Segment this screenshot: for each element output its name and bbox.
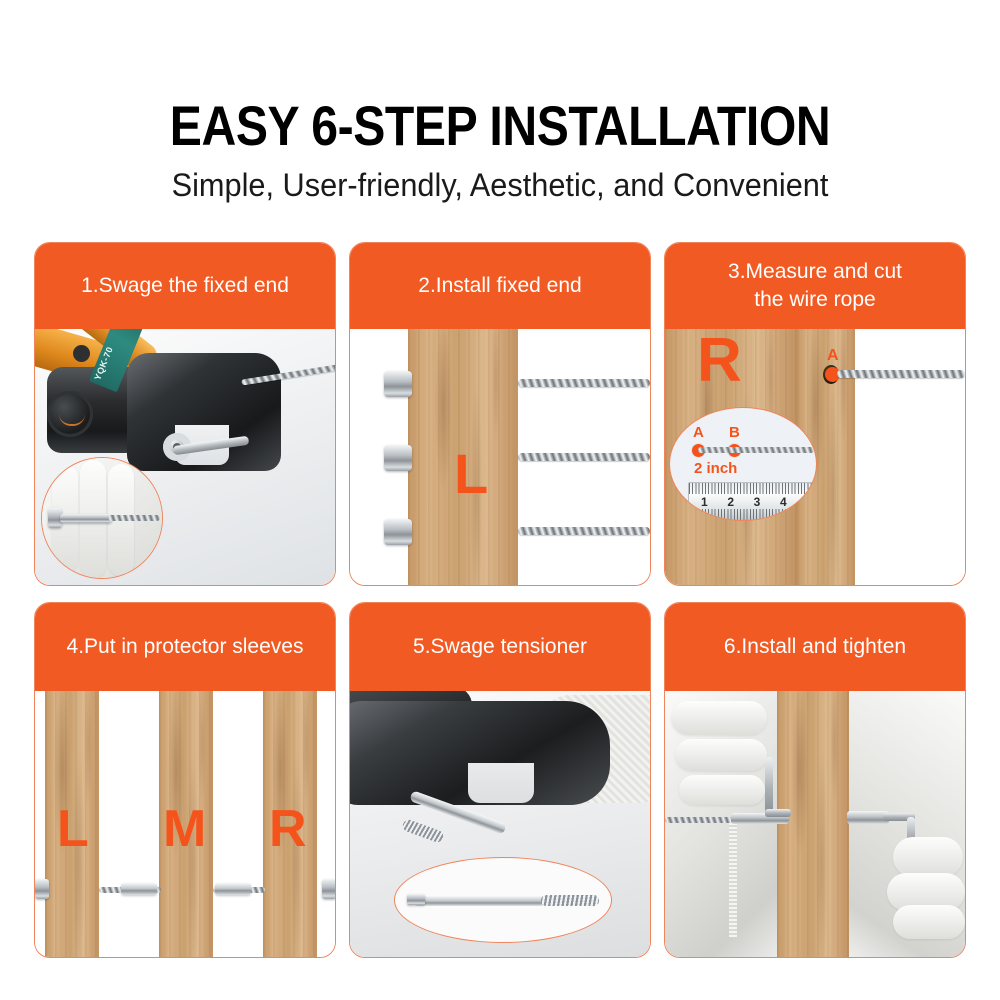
glove-finger-icon <box>671 701 767 735</box>
step-card-2[interactable]: 2.Install fixed end L <box>349 242 651 586</box>
ruler-icon: 1 2 3 4 5 <box>688 482 816 520</box>
step-5-header: 5.Swage tensioner <box>350 603 650 691</box>
dial-mark-icon <box>59 414 85 426</box>
swage-tool-jaw-gap <box>468 763 534 803</box>
wire-rope-icon <box>518 453 650 461</box>
wire-rope-icon <box>837 370 965 378</box>
tensioner-body-icon <box>413 896 545 906</box>
measurement-label: 2 inch <box>694 460 737 477</box>
cable-fitting-icon <box>322 879 335 899</box>
step-5-title: 5.Swage tensioner <box>413 633 587 661</box>
ruler-tick-2: 2 <box>727 495 734 509</box>
glove-finger-icon <box>893 905 965 939</box>
cable-fitting-icon <box>384 445 412 471</box>
ruler-tick-3: 3 <box>754 495 761 509</box>
ruler-numbers: 1 2 3 4 5 <box>701 495 813 509</box>
step-card-6[interactable]: 6.Install and tighten <box>664 602 966 958</box>
post-label-M: M <box>163 799 206 859</box>
ruler-tick-4: 4 <box>780 495 787 509</box>
stud-shank-icon <box>60 514 112 523</box>
protector-sleeve-icon <box>121 883 157 895</box>
post-label-L: L <box>57 799 89 859</box>
page-title: EASY 6-STEP INSTALLATION <box>70 96 930 156</box>
step-6-header: 6.Install and tighten <box>665 603 965 691</box>
cable-fitting-icon <box>384 371 412 397</box>
ruler-tick-1: 1 <box>701 495 708 509</box>
step-2-title: 2.Install fixed end <box>418 272 581 300</box>
infographic-page: EASY 6-STEP INSTALLATION Simple, User-fr… <box>0 0 1000 1000</box>
point-a-label: A <box>827 347 839 365</box>
ruler-ticks <box>689 509 815 521</box>
protector-sleeve-icon <box>215 883 251 895</box>
step-3-header: 3.Measure and cut the wire rope <box>665 243 965 329</box>
wire-rope-icon <box>518 379 650 387</box>
wire-rope-icon <box>698 447 814 453</box>
cable-fitting-icon <box>384 519 412 545</box>
wire-rope-icon <box>108 515 160 521</box>
point-a-label: A <box>693 424 704 441</box>
ruler-tick-5: 5 <box>806 495 813 509</box>
step-6-title: 6.Install and tighten <box>724 633 906 661</box>
page-header: EASY 6-STEP INSTALLATION Simple, User-fr… <box>0 0 1000 204</box>
step-4-image: L M R <box>35 691 335 957</box>
tensioner-thread-icon <box>541 895 599 906</box>
allen-key-icon <box>765 809 791 817</box>
step-card-5[interactable]: 5.Swage tensioner <box>349 602 651 958</box>
point-b-label: B <box>729 424 740 441</box>
step-5-image <box>350 691 650 957</box>
handle-knob-icon <box>73 345 90 362</box>
wire-rope-icon <box>518 527 650 535</box>
ruler-ticks <box>689 483 815 494</box>
glove-finger-icon <box>679 775 765 805</box>
step-2-header: 2.Install fixed end <box>350 243 650 329</box>
step-1-title: 1.Swage the fixed end <box>81 272 289 300</box>
post-label-L: L <box>454 441 488 506</box>
allen-key-icon <box>765 757 773 817</box>
jacket-zipper-icon <box>729 821 737 937</box>
glove-finger-icon <box>675 739 767 771</box>
steps-grid: 1.Swage the fixed end YQK-70 <box>34 242 966 958</box>
step-2-image: L <box>350 329 650 585</box>
wire-rope-icon <box>665 817 739 823</box>
step-1-detail-inset <box>41 457 163 579</box>
page-subtitle: Simple, User-friendly, Aesthetic, and Co… <box>20 166 980 204</box>
step-6-image <box>665 691 965 957</box>
tensioner-tip-icon <box>407 894 425 905</box>
step-3-title: 3.Measure and cut the wire rope <box>728 258 902 314</box>
post-label-R: R <box>697 329 742 396</box>
step-card-3[interactable]: 3.Measure and cut the wire rope R A A B <box>664 242 966 586</box>
step-3-image: R A A B 2 inch 1 <box>665 329 965 585</box>
tool-dial-icon <box>47 391 93 437</box>
step-1-header: 1.Swage the fixed end <box>35 243 335 329</box>
step-5-detail-inset <box>394 857 612 943</box>
cable-fitting-icon <box>35 879 49 899</box>
post-label-R: R <box>269 799 307 859</box>
glove-finger-icon <box>893 837 963 877</box>
wooden-post-icon <box>777 691 849 957</box>
step-3-title-line1: 3.Measure and cut <box>728 260 902 283</box>
step-1-image: YQK-70 <box>35 329 335 585</box>
step-card-1[interactable]: 1.Swage the fixed end YQK-70 <box>34 242 336 586</box>
step-4-title: 4.Put in protector sleeves <box>67 633 304 661</box>
step-3-title-line2: the wire rope <box>754 288 875 311</box>
step-3-detail-inset: A B 2 inch 1 2 3 4 5 <box>669 407 817 521</box>
step-4-header: 4.Put in protector sleeves <box>35 603 335 691</box>
step-card-4[interactable]: 4.Put in protector sleeves L M R <box>34 602 336 958</box>
